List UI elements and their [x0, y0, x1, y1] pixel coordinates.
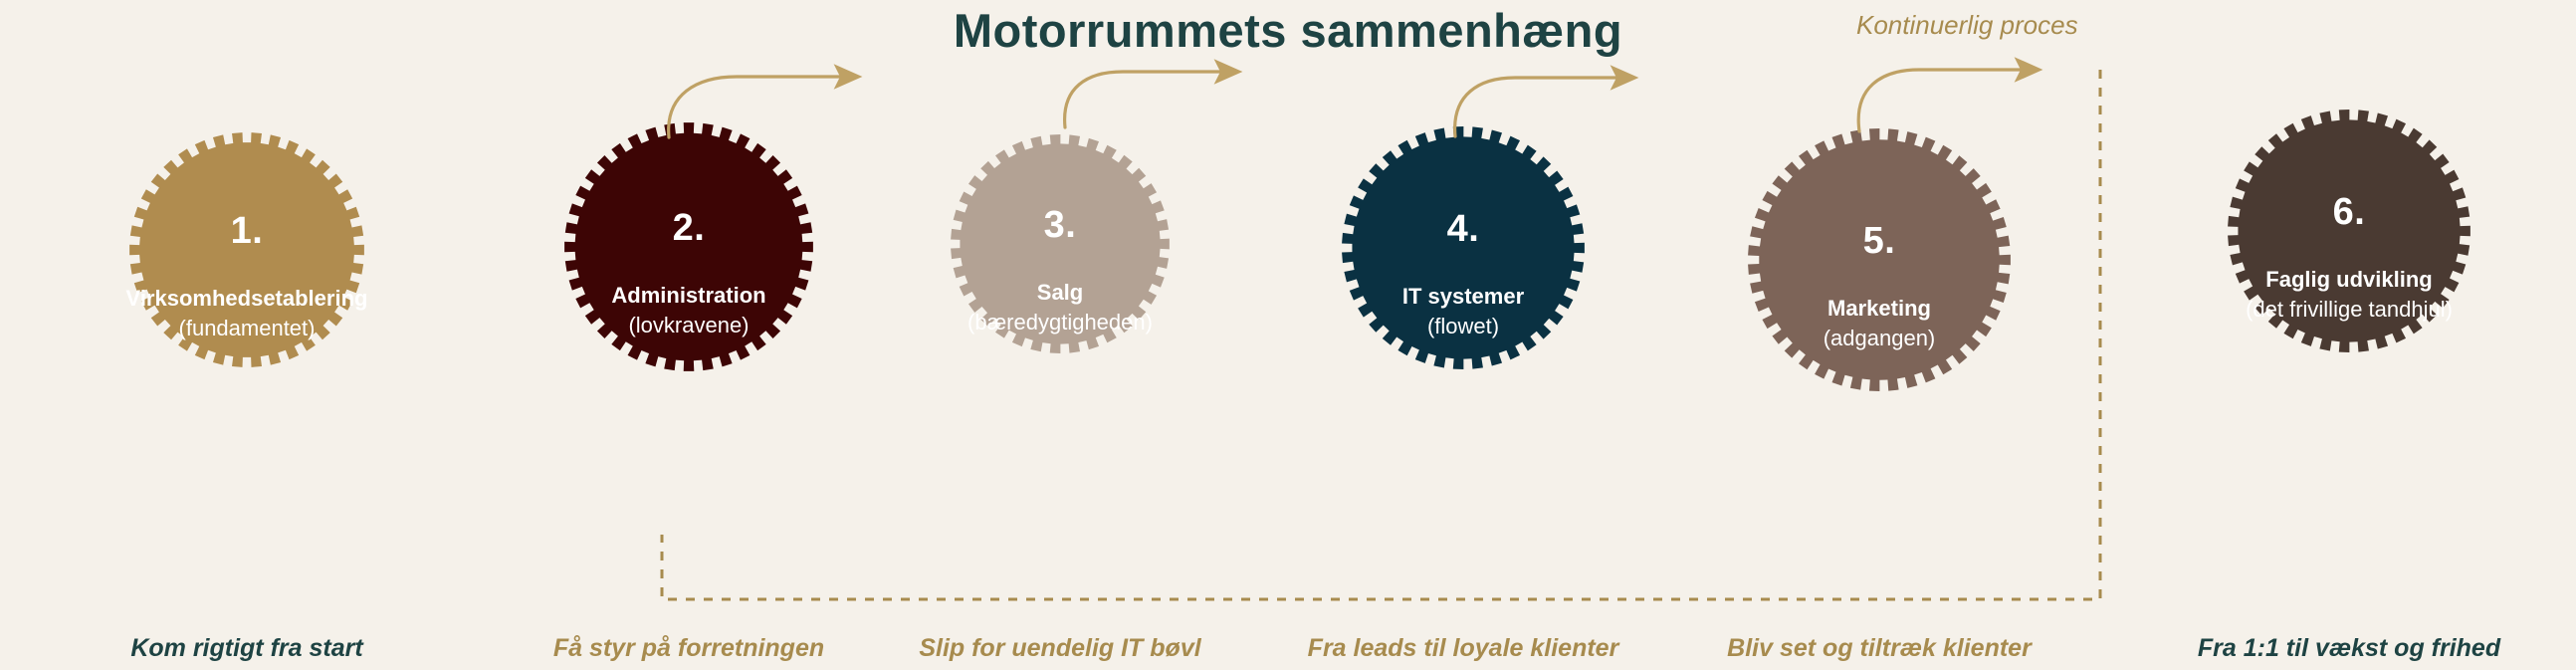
- gear-2-number: 2.: [490, 207, 888, 250]
- gear-6-subtitle: (det frivillige tandhjul): [2100, 297, 2576, 323]
- gear-4-number: 4.: [1264, 208, 1662, 251]
- gear-5-number: 5.: [1680, 220, 2078, 263]
- continuous-process-label: Kontinuerlig proces: [1856, 10, 2078, 41]
- gear-3-number: 3.: [861, 204, 1259, 247]
- arrow-1-to-2: [669, 77, 856, 137]
- flow-arrows: [669, 70, 2037, 137]
- gear-1-subtitle: (fundamentet): [0, 316, 496, 341]
- caption-gear-6: Fra 1:1 til vækst og frihed: [2090, 634, 2576, 663]
- arrow-3-to-4: [1455, 78, 1632, 136]
- diagram-canvas: Motorrummets sammenhæng Kontinuerlig pro…: [0, 0, 2576, 670]
- caption-gear-5: Bliv set og tiltræk klienter: [1620, 634, 2138, 663]
- gear-1-number: 1.: [48, 210, 446, 253]
- gear-6-number: 6.: [2150, 191, 2548, 234]
- gear-6-title: Faglig udvikling: [2100, 267, 2576, 293]
- gear-5-subtitle: (adgangen): [1630, 326, 2128, 351]
- gear-5-title: Marketing: [1630, 296, 2128, 322]
- arrow-4-to-5: [1858, 70, 2037, 131]
- gear-1-title: Virksomhedsetablering: [0, 286, 496, 312]
- arrow-2-to-3: [1065, 72, 1236, 127]
